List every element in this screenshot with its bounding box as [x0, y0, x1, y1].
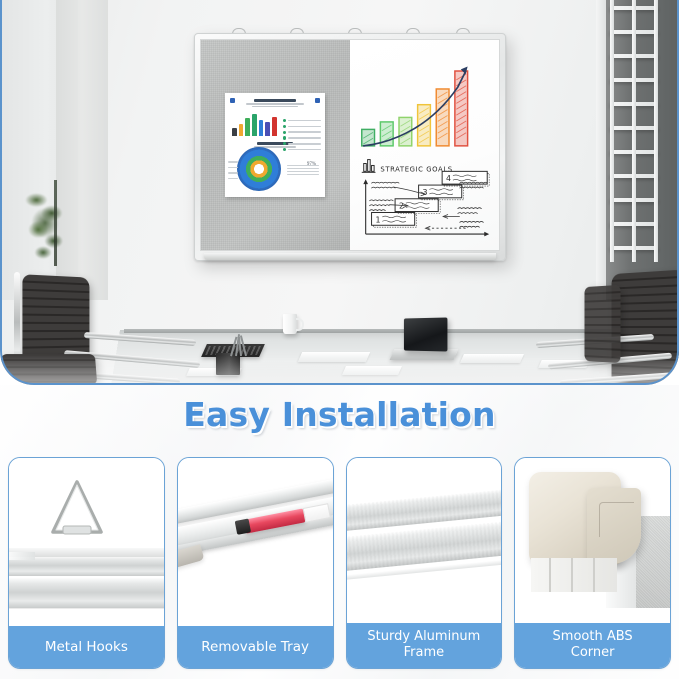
card-label: Smooth ABS Corner	[515, 623, 670, 668]
rail-highlight	[9, 552, 35, 560]
poster-bar	[232, 128, 237, 136]
card-label: Sturdy Aluminum Frame	[347, 623, 502, 668]
plant-stem	[54, 180, 57, 266]
handwriting-scribble	[370, 205, 390, 206]
whiteboard-bar	[455, 71, 468, 146]
poster-sub-bar	[252, 106, 298, 108]
triangle-hook-icon	[49, 478, 105, 540]
whiteboard: 97%	[194, 33, 506, 261]
abs-corner-image	[515, 458, 670, 623]
poster-desc-lines	[287, 165, 319, 177]
poster-bar	[239, 124, 244, 136]
card-label-text: Sturdy Aluminum Frame	[367, 629, 480, 661]
marker-tip	[234, 518, 250, 534]
feature-card-list: Metal Hooks Removable Tray	[8, 457, 671, 669]
feature-card-metal-hooks[interactable]: Metal Hooks	[8, 457, 165, 669]
coffee-mug	[283, 314, 297, 334]
whiteboard-drawing: STRATEGIC GOALS 1234	[350, 40, 499, 250]
flowchart-step-number: 3	[423, 188, 428, 197]
section-title: Easy Installation	[0, 395, 679, 434]
poster-sub-bar	[246, 103, 303, 105]
flowchart-step-number: 4	[446, 174, 451, 183]
feature-card-abs-corner[interactable]: Smooth ABS Corner	[514, 457, 671, 669]
pin-icon	[230, 98, 235, 103]
poster-bar	[265, 122, 270, 136]
poster-legend-row	[283, 131, 321, 134]
hero-office-scene: 97%	[0, 0, 679, 385]
dry-erase-panel: STRATEGIC GOALS 1234	[350, 40, 499, 250]
product-infographic: 97%	[0, 0, 679, 679]
handwriting-scribble	[372, 182, 399, 183]
poster-legend-row	[283, 136, 321, 139]
poster-bar	[245, 118, 250, 136]
card-label-line2: Frame	[404, 645, 445, 660]
table-edge	[124, 329, 636, 333]
poster-axis-labels	[228, 161, 238, 183]
metal-hooks-image	[9, 458, 164, 626]
frame-rail-bottom	[9, 578, 164, 608]
poster-legend-row	[283, 142, 321, 145]
corner-seam	[599, 502, 634, 537]
handwriting-scribble	[460, 226, 480, 227]
handwriting-scribble	[458, 208, 482, 209]
handwriting-scribble	[458, 213, 478, 214]
board-pen-tray	[204, 253, 496, 260]
laptop-screen	[404, 317, 448, 351]
poster-donut-chart	[237, 147, 281, 191]
poster-bar	[252, 114, 257, 136]
feature-card-aluminum-frame[interactable]: Sturdy Aluminum Frame	[346, 457, 503, 669]
pinned-poster: 97%	[225, 93, 325, 197]
pens	[228, 336, 254, 356]
poster-legend-row	[283, 148, 321, 151]
poster-title-bar	[254, 99, 296, 102]
handwriting-scribble	[460, 221, 484, 222]
handwriting-scribble	[370, 210, 386, 211]
aluminum-frame-image	[347, 458, 502, 623]
removable-tray-image	[178, 458, 333, 626]
wall-right-edge	[596, 0, 606, 300]
flowchart-step-number: 1	[375, 215, 380, 224]
poster-legend	[283, 119, 321, 154]
card-label: Removable Tray	[178, 626, 333, 668]
window-slats	[610, 0, 658, 262]
flowchart-step-number: 2	[399, 202, 404, 211]
poster-legend-row	[283, 119, 321, 122]
cork-panel: 97%	[201, 40, 350, 250]
pin-icon	[315, 98, 320, 103]
card-label-text: Smooth ABS Corner	[553, 629, 633, 661]
hero-fade	[0, 355, 679, 385]
poster-bar	[259, 120, 264, 136]
poster-bar-chart	[229, 108, 279, 136]
slat-post	[654, 0, 658, 262]
feature-card-removable-tray[interactable]: Removable Tray	[177, 457, 334, 669]
card-label-line2: Corner	[571, 645, 615, 660]
plant-icon	[22, 182, 70, 264]
handwriting-scribble	[372, 187, 396, 188]
frame-rails-under	[531, 558, 617, 592]
board-surface: 97%	[200, 39, 500, 251]
handwriting-scribble	[370, 200, 394, 201]
tray-end-cap	[178, 544, 205, 572]
poster-legend-row	[283, 125, 321, 128]
poster-bar	[272, 117, 277, 136]
card-label-line1: Smooth ABS	[553, 629, 633, 644]
handwriting-scribble	[460, 187, 484, 188]
slat-post	[632, 0, 636, 262]
card-label-line1: Sturdy Aluminum	[367, 629, 480, 644]
card-label: Metal Hooks	[9, 626, 164, 668]
slat-post	[610, 0, 614, 262]
